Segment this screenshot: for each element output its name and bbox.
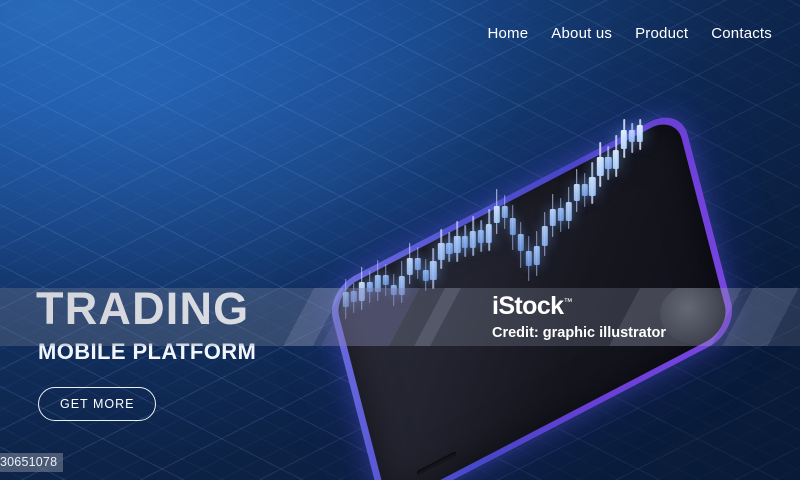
candlestick xyxy=(542,116,548,316)
candlestick-body xyxy=(486,224,492,243)
landing-page: Home About us Product Contacts TRADING M… xyxy=(0,0,800,480)
candlestick-body xyxy=(502,206,508,219)
candlestick xyxy=(629,111,635,311)
candlestick-body xyxy=(454,236,460,253)
candlestick-body xyxy=(526,251,532,266)
candlestick-body xyxy=(581,184,587,197)
page-title: TRADING xyxy=(36,286,256,331)
candlestick xyxy=(422,123,428,323)
candlestick-body xyxy=(597,157,603,176)
candlestick xyxy=(391,125,397,325)
trademark-icon: ™ xyxy=(563,297,572,307)
candlestick xyxy=(383,126,389,326)
candlestick-body xyxy=(343,292,349,307)
candlestick-body xyxy=(438,243,444,260)
asset-id-badge: 30651078 xyxy=(0,453,63,472)
candlestick-body xyxy=(470,231,476,248)
candlestick xyxy=(375,126,381,326)
candlestick-body xyxy=(605,157,611,170)
candlestick-body xyxy=(637,125,643,142)
candlestick xyxy=(414,124,420,324)
candlestick-body xyxy=(550,209,556,226)
candlestick-body xyxy=(510,218,516,235)
candlestick-body xyxy=(573,184,579,201)
candlestick xyxy=(526,117,532,317)
candlestick-body xyxy=(367,282,373,293)
nav-item-about-us[interactable]: About us xyxy=(551,25,612,42)
candlestick-body xyxy=(359,282,365,301)
candlestick xyxy=(637,110,643,310)
candlestick xyxy=(510,118,516,318)
candlestick xyxy=(406,124,412,324)
candlestick-body xyxy=(398,276,404,295)
candlestick xyxy=(478,120,484,320)
candlestick xyxy=(565,114,571,314)
candlestick xyxy=(343,128,349,328)
candlestick-body xyxy=(406,258,412,275)
candlestick-body xyxy=(518,234,524,251)
main-nav: Home About us Product Contacts xyxy=(487,25,772,42)
candlestick-body xyxy=(534,246,540,265)
candlestick xyxy=(605,112,611,312)
candlestick xyxy=(557,115,563,315)
istock-wordmark: iStock xyxy=(492,292,563,320)
candlestick xyxy=(367,127,373,327)
candlestick-body xyxy=(494,206,500,223)
page-subtitle: MOBILE PLATFORM xyxy=(38,341,256,363)
candlestick-body xyxy=(422,270,428,281)
candlestick-body xyxy=(446,243,452,254)
nav-item-contacts[interactable]: Contacts xyxy=(711,25,772,42)
candlestick xyxy=(597,112,603,312)
candlestick-body xyxy=(391,285,397,296)
candlestick xyxy=(613,111,619,311)
candlestick-body xyxy=(565,202,571,221)
candlestick-body xyxy=(557,208,563,221)
candlestick xyxy=(462,121,468,321)
candlestick xyxy=(534,116,540,316)
candlestick xyxy=(589,113,595,313)
candlestick xyxy=(573,114,579,314)
candlestick xyxy=(446,122,452,322)
candlestick xyxy=(621,111,627,311)
candlestick xyxy=(494,119,500,319)
nav-item-home[interactable]: Home xyxy=(487,25,528,42)
candlestick xyxy=(398,125,404,325)
nav-item-product[interactable]: Product xyxy=(635,25,688,42)
candlestick-body xyxy=(589,177,595,196)
candlestick xyxy=(359,127,365,327)
candlestick-body xyxy=(621,130,627,149)
watermark-credit: Credit: graphic illustrator xyxy=(492,325,666,341)
get-more-button[interactable]: GET MORE xyxy=(38,387,156,421)
candlestick xyxy=(438,122,444,322)
candlestick xyxy=(502,118,508,318)
candlestick xyxy=(550,115,556,315)
candlestick-body xyxy=(414,258,420,271)
candlestick-body xyxy=(462,236,468,249)
candlestick-body xyxy=(375,275,381,292)
candlestick-body xyxy=(430,261,436,280)
candlestick xyxy=(454,121,460,321)
candlestick-body xyxy=(629,130,635,143)
candlestick xyxy=(470,120,476,320)
candlestick xyxy=(581,113,587,313)
candlestick-body xyxy=(613,150,619,169)
candlestick xyxy=(518,117,524,317)
candlestick xyxy=(430,123,436,323)
candlestick-body xyxy=(383,275,389,286)
hero-section: TRADING MOBILE PLATFORM GET MORE xyxy=(36,286,256,421)
candlestick-body xyxy=(478,230,484,243)
candlestick xyxy=(351,128,357,328)
candlestick-body xyxy=(542,226,548,245)
candlestick xyxy=(486,119,492,319)
candlestick-body xyxy=(351,291,357,302)
istock-logo: iStock™ xyxy=(492,292,572,321)
